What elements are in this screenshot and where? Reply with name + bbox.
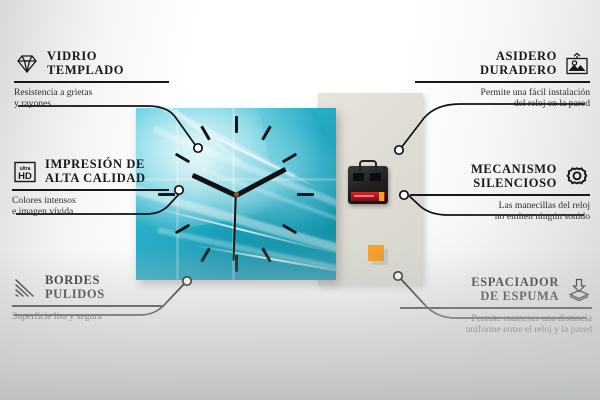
callout-header: ultra HD IMPRESIÓN DE ALTA CALIDAD (12, 158, 192, 185)
callout-title-line1: ASIDERO (480, 50, 557, 64)
callout-divider (14, 81, 169, 83)
callout-asidero-duradero[interactable]: ASIDERO DURADERO Permite una fácil insta… (405, 50, 590, 110)
ultra-hd-icon: ultra HD (12, 160, 38, 184)
callout-title-line1: BORDES (45, 274, 105, 288)
callout-divider (12, 189, 169, 191)
callout-mecanismo-silencioso[interactable]: MECANISMO SILENCIOSO Las manecillas del … (405, 163, 590, 223)
hanger-hook-icon (359, 160, 377, 171)
callout-title: MECANISMO SILENCIOSO (471, 163, 557, 190)
callout-title-line2: TEMPLADO (47, 64, 124, 78)
hour-tick-12 (235, 116, 238, 133)
hour-tick-3 (297, 193, 314, 196)
callout-title-line2: DURADERO (480, 64, 557, 78)
callout-desc-line2: del reloj en la pared (405, 98, 590, 110)
battery-positive-terminal (379, 192, 384, 201)
diamond-icon (14, 52, 40, 76)
callout-desc-line1: Colores intensos (12, 195, 192, 207)
callout-desc-line2: uniforme entre el reloj y la pared (396, 324, 592, 336)
callout-desc-line1: Las manecillas del reloj (405, 200, 590, 212)
callout-vidrio-templado[interactable]: VIDRIO TEMPLADO Resistencia a grietas y … (14, 50, 184, 110)
callout-title: ASIDERO DURADERO (480, 50, 557, 77)
gear-icon (564, 165, 590, 189)
clock-center-cap (234, 192, 239, 197)
callout-title-line2: ALTA CALIDAD (45, 172, 146, 186)
callout-title-line2: PULIDOS (45, 288, 105, 302)
callout-desc-line1: Resistencia a grietas (14, 87, 184, 99)
connector-path-asidero (401, 104, 585, 148)
callout-divider (12, 305, 164, 307)
callout-header: ASIDERO DURADERO (405, 50, 590, 77)
callout-impresion-alta-calidad[interactable]: ultra HD IMPRESIÓN DE ALTA CALIDAD Color… (12, 158, 192, 218)
callout-title: ESPACIADOR DE ESPUMA (471, 276, 559, 303)
hour-tick-6 (235, 255, 238, 272)
callout-title: IMPRESIÓN DE ALTA CALIDAD (45, 158, 146, 185)
polished-edges-icon (12, 276, 38, 300)
callout-divider (410, 194, 590, 196)
mechanism-slot-right (370, 173, 381, 181)
battery-band (354, 195, 374, 197)
callout-desc-line1: Permite mantener una distancia (396, 313, 592, 325)
callout-title-line1: MECANISMO (471, 163, 557, 177)
foam-spacer-icon (566, 278, 592, 302)
clock-mechanism (348, 166, 388, 204)
foam-spacer-pad (368, 245, 384, 261)
callout-title-line2: SILENCIOSO (471, 177, 557, 191)
callout-divider (400, 307, 592, 309)
battery (351, 192, 385, 201)
callout-title: BORDES PULIDOS (45, 274, 105, 301)
callout-title-line1: ESPACIADOR (471, 276, 559, 290)
callout-desc-line2: e imagen vívida (12, 206, 192, 218)
hour-tick-7 (200, 247, 211, 262)
picture-hanger-icon (564, 52, 590, 76)
svg-text:HD: HD (18, 171, 32, 182)
callout-desc-line1: Superficie lisa y segura (12, 311, 184, 323)
callout-header: BORDES PULIDOS (12, 274, 184, 301)
callout-espaciador-de-espuma[interactable]: ESPACIADOR DE ESPUMA Permite mantener un… (396, 276, 592, 336)
callout-divider (415, 81, 590, 83)
callout-title-line2: DE ESPUMA (471, 290, 559, 304)
infographic-canvas: VIDRIO TEMPLADO Resistencia a grietas y … (0, 0, 600, 400)
callout-header: VIDRIO TEMPLADO (14, 50, 184, 77)
callout-header: MECANISMO SILENCIOSO (405, 163, 590, 190)
callout-title-line1: VIDRIO (47, 50, 124, 64)
callout-title: VIDRIO TEMPLADO (47, 50, 124, 77)
callout-desc-line2: y rayones (14, 98, 184, 110)
callout-bordes-pulidos[interactable]: BORDES PULIDOS Superficie lisa y segura (12, 274, 184, 322)
callout-header: ESPACIADOR DE ESPUMA (396, 276, 592, 303)
callout-desc-line2: no emiten ningún sonido (405, 211, 590, 223)
callout-desc-line1: Permite una fácil instalación (405, 87, 590, 99)
mechanism-slot-left (353, 173, 364, 181)
callout-title-line1: IMPRESIÓN DE (45, 158, 146, 172)
